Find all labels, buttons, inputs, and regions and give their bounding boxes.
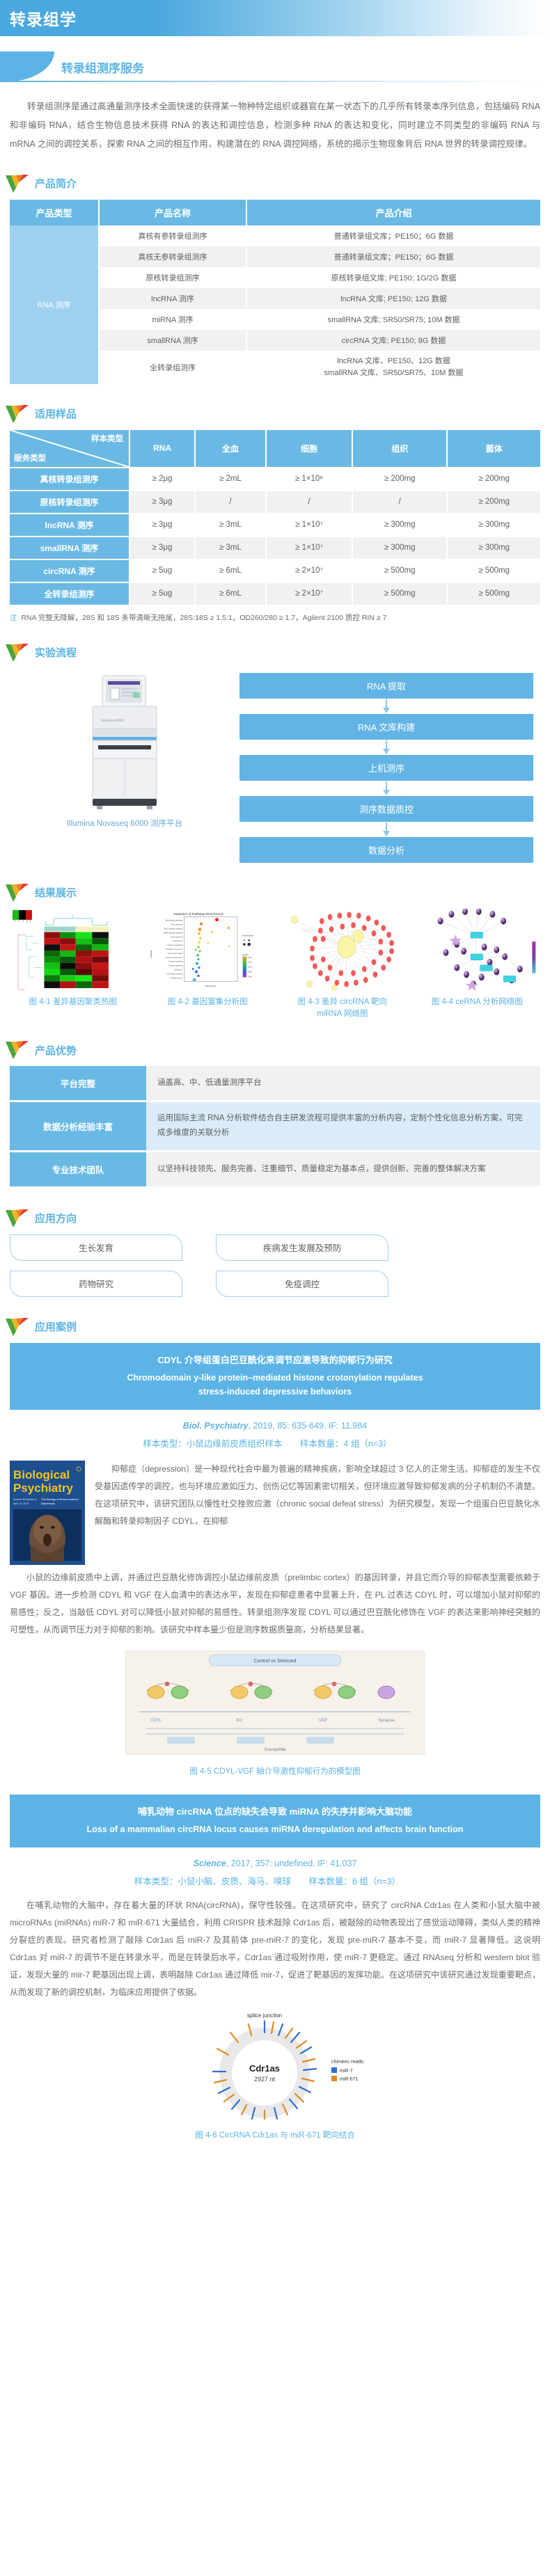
figure-caption: 图 4-2 基因富集分析图: [168, 996, 248, 1008]
svg-text:VGF: VGF: [319, 1719, 328, 1723]
svg-text:0.010: 0.010: [247, 962, 251, 963]
sample-value: ≥ 1×10⁷: [266, 514, 352, 536]
product-table-body: RNA 测序 真核有参转录组测序 普通转录组文库；PE150；6G 数据 真核无…: [10, 225, 540, 384]
case-figure-1: Control vs Stressed CDYL Kcr: [125, 1651, 425, 1776]
table-row: 真核转录组测序 ≥ 2μg ≥ 2mL ≥ 1×10⁶ ≥ 200mg ≥ 20…: [10, 468, 540, 491]
figure-item: 图 4-4 ceRNA 分析网络图: [411, 909, 544, 1021]
sample-service-name: 原核转录组测序: [10, 491, 129, 514]
note-label: 注:: [10, 614, 19, 622]
svg-text:p-Value: p-Value: [242, 953, 249, 956]
sample-value: ≥ 6mL: [195, 559, 266, 582]
svg-text:0.006: 0.006: [247, 971, 251, 973]
sample-value: ≥ 3μg: [129, 514, 195, 536]
figure-item: Statistics of Pathway Enrichment Ras sig…: [142, 909, 274, 1021]
product-table: 产品类型 产品名称 产品介绍 RNA 测序 真核有参转录组测序 普通转录组文库；…: [10, 200, 540, 384]
figure-caption: 图 4-4 ceRNA 分析网络图: [432, 996, 523, 1008]
sample-value: ≥ 200mg: [447, 491, 540, 514]
note-text: RNA 完整无降解，28S 和 18S 条带清晰无拖尾，28S:18S ≥ 1.…: [21, 614, 386, 622]
product-name: smallRNA 测序: [99, 330, 246, 351]
svg-text:Long-term depression: Long-term depression: [165, 956, 182, 959]
case-paragraph-1b: 小鼠的边缘前皮质中上调，并通过巴豆酰化修饰调控小鼠边缘前皮质（prelimbic…: [10, 1569, 540, 1639]
table-row: 平台完整 涵盖高、中、低通量测序平台: [10, 1066, 540, 1102]
case-sample-count: 样本数量：4 组（n=3）: [300, 1439, 392, 1449]
cdyl-vgf-model-figure-icon: Control vs Stressed CDYL Kcr: [125, 1651, 425, 1755]
sequencer-caption: Illumina Novaseq 6000 测序平台: [67, 818, 182, 829]
section-title: 结果展示: [35, 885, 77, 900]
case-meta-1: Biol. Psychiatry, 2019, 85: 635-649. IF:…: [10, 1421, 540, 1449]
case-paragraph-2: 在哺乳动物的大脑中，存在着大量的环状 RNA(circRNA)，保守性较强。在这…: [10, 1897, 540, 2002]
svg-text:Biological: Biological: [13, 1468, 70, 1481]
section-header-applications: 应用方向: [6, 1209, 550, 1227]
application-pill-growth[interactable]: 生长发育: [10, 1234, 182, 1261]
results-figures: 图 4-1 差异基因聚类热图 Statistics of Pathway Enr…: [7, 909, 543, 1021]
sample-value: ≥ 1×10⁶: [266, 468, 352, 491]
cerna-network-figure-icon: [411, 909, 544, 991]
case-sample-info: 样本类型：小鼠边缘前皮质组织样本 样本数量：4 组（n=3）: [10, 1436, 540, 1449]
intro-paragraph: 转录组测序是通过高通量测序技术全面快速的获得某一物种特定组织或器官在某一状态下的…: [10, 97, 540, 154]
sample-value: ≥ 1×10⁷: [266, 536, 352, 559]
svg-text:Cholinergic synapse: Cholinergic synapse: [166, 972, 183, 975]
advantage-key: 数据分析经验丰富: [10, 1102, 146, 1152]
svg-text:0.012: 0.012: [247, 957, 251, 959]
product-desc: 普通转录组文库；PE150；6G 数据: [246, 246, 540, 267]
product-desc: smallRNA 文库; SR50/SR75; 10M 数据: [246, 309, 540, 330]
v-check-icon: [6, 405, 29, 423]
svg-text:Rap1 signaling pathway: Rap1 signaling pathway: [164, 927, 183, 930]
product-desc: 原核转录组文库; PE150; 1G/2G 数据: [246, 267, 540, 288]
advantage-value: 以坚持科技领先、服务完善、注重细节、质量稳定为基本点，提供创新、完善的整体解决方…: [146, 1151, 540, 1187]
col-whole-blood: 全血: [195, 430, 266, 468]
sample-value: ≥ 300mg: [352, 514, 447, 536]
journal-details: , 2017, 357: undefined. IF: 41.037: [226, 1859, 357, 1868]
product-desc: lncRNA 文库; PE150; 12G 数据: [246, 288, 540, 309]
v-check-icon: [6, 1209, 29, 1227]
application-directions: 生长发育 疾病发生发展及预防 药物研究 免疫调控: [10, 1234, 540, 1297]
product-name: 原核转录组测序: [99, 267, 246, 288]
svg-text:Circadian entrainment: Circadian entrainment: [165, 948, 182, 951]
figure-item: 图 4-3 差异 circRNA 靶向 miRNA 网络图: [276, 909, 409, 1021]
advantage-value: 涵盖高、中、低通量测序平台: [146, 1066, 540, 1102]
cdr1as-length-label: 2927 nt: [254, 2076, 276, 2083]
chimeric-reads-title: chimeric reads:: [331, 2060, 365, 2065]
workflow-step: 数据分析: [239, 837, 533, 863]
workflow-arrow-icon: [239, 699, 533, 714]
svg-text:NovaSeq 6000: NovaSeq 6000: [101, 719, 124, 723]
case-title-en-line1: Chromodomain y-like protein–mediated his…: [24, 1371, 526, 1385]
sample-value: ≥ 500mg: [447, 559, 540, 582]
case-body-1: Biological Psychiatry Volume 85 Number 8…: [10, 1461, 540, 1565]
page-banner: 转录组学: [0, 0, 550, 36]
section-header-advantages: 产品优势: [6, 1041, 550, 1059]
sample-value: /: [266, 491, 352, 514]
svg-text:Pathway: Pathway: [150, 949, 152, 957]
svg-text:Neuroactive ligand: Neuroactive ligand: [168, 952, 183, 955]
product-name: 真核无参转录组测序: [99, 246, 246, 267]
table-row: 专业技术团队 以坚持科技领先、服务完善、注重细节、质量稳定为基本点，提供创新、完…: [10, 1151, 540, 1187]
sample-value: ≥ 3μg: [129, 491, 195, 514]
sample-value: ≥ 6mL: [195, 582, 266, 605]
section-title: 应用案例: [35, 1319, 77, 1334]
sample-table: 样本类型 服务类型 RNA 全血 细胞 组织 菌体 真核转录组测序 ≥ 2μg …: [10, 430, 540, 606]
product-name: miRNA 测序: [99, 309, 246, 330]
svg-text:Susceptible: Susceptible: [264, 1748, 286, 1752]
case-figure-caption: 图 4-6 CircRNA Cdr1as 与 miR-671 靶向结合: [160, 2129, 390, 2140]
v-check-icon: [6, 1318, 29, 1336]
sequencer-machine-icon: NovaSeq 6000: [83, 673, 166, 812]
case-title-cn: 哺乳动物 circRNA 位点的缺失会导致 miRNA 的失序并影响大脑功能: [24, 1804, 526, 1818]
table-row: 全转录组测序 ≥ 5ug ≥ 6mL ≥ 2×10⁷ ≥ 500mg ≥ 500…: [10, 582, 540, 605]
case-title-en-line2: stress-induced depressive behaviors: [24, 1385, 526, 1399]
svg-text:GeneNumber: GeneNumber: [242, 934, 253, 937]
case-journal-citation: Science, 2017, 357: undefined. IF: 41.03…: [10, 1859, 540, 1868]
table-header-row: 样本类型 服务类型 RNA 全血 细胞 组织 菌体: [10, 430, 540, 468]
sample-value: ≥ 500mg: [447, 582, 540, 605]
svg-text:Focal adhesion: Focal adhesion: [171, 935, 183, 938]
section-title: 产品简介: [35, 176, 77, 191]
figure-item: 图 4-1 差异基因聚类热图: [7, 909, 139, 1021]
product-name: 全转录组测序: [99, 351, 246, 384]
col-product-type: 产品类型: [10, 200, 99, 225]
sample-value: ≥ 2mL: [195, 468, 266, 491]
advantage-key: 平台完整: [10, 1066, 146, 1102]
circrna-network-figure-icon: [276, 909, 409, 991]
sample-value: ≥ 5ug: [129, 582, 195, 605]
advantages-table: 平台完整 涵盖高、中、低通量测序平台 数据分析经验丰富 运用国际主流 RNA 分…: [10, 1066, 540, 1188]
advantage-value: 运用国际主流 RNA 分析软件结合自主研发流程可提供丰富的分析内容，定制个性化信…: [146, 1102, 540, 1152]
svg-text:Axon guidance: Axon guidance: [171, 923, 182, 925]
svg-text:Hepatitis C: Hepatitis C: [173, 968, 182, 971]
workflow-step: 上机测序: [239, 755, 533, 781]
sample-table-note: 注: RNA 完整无降解，28S 和 18S 条带清晰无拖尾，28S:18S ≥…: [10, 612, 540, 623]
table-header-row: 产品类型 产品名称 产品介绍: [10, 200, 540, 225]
col-tissue: 组织: [352, 430, 447, 468]
svg-text:Endocytosis: Endocytosis: [173, 939, 182, 942]
case-paragraph-1a: 抑郁症（depression）是一种现代社会中最为普遍的精神疾病，影响全球超过 …: [95, 1461, 540, 1565]
sample-service-name: lncRNA 测序: [10, 514, 129, 536]
sample-value: ≥ 300mg: [352, 536, 447, 559]
svg-text:Prostate cancer: Prostate cancer: [170, 976, 182, 979]
section-header-results: 结果展示: [6, 884, 550, 902]
product-desc: circRNA 文库; PE150; 8G 数据: [246, 330, 540, 351]
workflow-arrow-icon: [239, 781, 533, 796]
sample-value: ≥ 3mL: [195, 514, 266, 536]
splice-junction-label: splice junction: [247, 2012, 282, 2019]
svg-text:Kcr: Kcr: [237, 1719, 243, 1723]
sample-value: ≥ 300mg: [447, 514, 540, 536]
svg-text:cAMP signaling pathway: cAMP signaling pathway: [163, 931, 182, 934]
svg-text:Psychiatry: Psychiatry: [13, 1481, 74, 1495]
section-title: 应用方向: [35, 1211, 77, 1225]
workflow-arrow-icon: [239, 740, 533, 755]
workflow-arrow-icon: [239, 822, 533, 837]
svg-text:CDYL: CDYL: [150, 1719, 162, 1723]
svg-text:Longevity regulating: Longevity regulating: [166, 944, 182, 946]
sample-service-name: 全转录组测序: [10, 582, 129, 605]
sample-value: ≥ 200mg: [447, 468, 540, 491]
workflow-step: 测序数据质控: [239, 796, 533, 822]
svg-text:Synapse: Synapse: [378, 1719, 395, 1723]
table-row: RNA 测序 真核有参转录组测序 普通转录组文库；PE150；6G 数据: [10, 225, 540, 246]
v-check-icon: [6, 884, 29, 902]
svg-text:Volume 85 Number 8: Volume 85 Number 8: [13, 1498, 37, 1501]
figure-caption: 图 4-3 差异 circRNA 靶向 miRNA 网络图: [298, 996, 387, 1021]
workflow-container: NovaSeq 6000 Illumina Novaseq 6000 测序平台 …: [10, 669, 540, 863]
cdr1as-center-label: Cdr1as: [249, 2063, 280, 2074]
journal-name: Biol. Psychiatry: [183, 1421, 249, 1431]
svg-text:April 15, 2019: April 15, 2019: [13, 1502, 29, 1505]
case-journal-citation: Biol. Psychiatry, 2019, 85: 635-649. IF:…: [10, 1421, 540, 1431]
figure-caption: 图 4-1 差异基因聚类热图: [29, 996, 117, 1008]
section-title: 实验流程: [35, 645, 77, 660]
banner-curve-shape: [0, 51, 54, 82]
advantage-key: 专业技术团队: [10, 1151, 146, 1187]
page-title: 转录组学: [10, 6, 77, 30]
application-pill-drug[interactable]: 药物研究: [10, 1271, 182, 1297]
sample-value: ≥ 200mg: [352, 468, 447, 491]
sample-value: ≥ 2μg: [129, 468, 195, 491]
svg-text:Calcium signaling: Calcium signaling: [168, 960, 183, 962]
sample-value: /: [352, 491, 447, 514]
case-sample-count: 样本数量：6 组（n=3）: [308, 1877, 400, 1886]
svg-text:Depression: Depression: [41, 1502, 55, 1505]
case-sample-type: 样本类型：小鼠边缘前皮质组织样本: [143, 1439, 282, 1449]
product-name: 真核有参转录组测序: [99, 225, 246, 246]
product-category-cell: RNA 测序: [10, 225, 99, 384]
product-desc: 普通转录组文库；PE150；6G 数据: [246, 225, 540, 246]
section-header-workflow: 实验流程: [6, 644, 550, 662]
sample-value: ≥ 500mg: [352, 582, 447, 605]
case-title-cn: CDYL 介导组蛋白巴豆酰化来调节应激导致的抑郁行为研究: [24, 1353, 526, 1366]
heatmap-figure-icon: [7, 909, 139, 991]
svg-text:0.004: 0.004: [247, 976, 251, 978]
application-pill-immune[interactable]: 免疫调控: [216, 1271, 388, 1297]
case-figure-2: splice junction: [160, 2009, 390, 2140]
section-header-cases: 应用案例: [6, 1318, 550, 1336]
sample-table-corner: 样本类型 服务类型: [10, 430, 129, 468]
svg-text:Control vs Stressed: Control vs Stressed: [253, 1659, 296, 1664]
journal-cover-image: Biological Psychiatry Volume 85 Number 8…: [10, 1461, 85, 1565]
section-title: 产品优势: [35, 1043, 77, 1058]
sample-value: ≥ 5ug: [129, 559, 195, 582]
svg-text:Rich Factor: Rich Factor: [205, 985, 216, 987]
col-cell: 细胞: [266, 430, 352, 468]
corner-label-sample-type: 样本类型: [91, 433, 123, 444]
section-header-product-intro: 产品简介: [6, 175, 550, 193]
col-product-name: 产品名称: [99, 200, 246, 225]
case-title-banner-2: 哺乳动物 circRNA 位点的缺失会导致 miRNA 的失序并影响大脑功能 L…: [10, 1795, 540, 1847]
workflow-step: RNA 提取: [239, 673, 533, 699]
journal-name: Science: [194, 1859, 226, 1868]
service-title: 转录组测序服务: [61, 58, 144, 76]
page-root: 转录组学 转录组测序服务 转录组测序是通过高通量测序技术全面快速的获得某一物种特…: [0, 0, 550, 2154]
sample-table-body: 真核转录组测序 ≥ 2μg ≥ 2mL ≥ 1×10⁶ ≥ 200mg ≥ 20…: [10, 468, 540, 605]
sample-value: ≥ 3μg: [129, 536, 195, 559]
sample-value: ≥ 300mg: [447, 536, 540, 559]
case-figure-caption: 图 4-5 CDYL-VGF 轴介导激性抑郁行为的模型图: [125, 1765, 425, 1776]
table-row: circRNA 测序 ≥ 5ug ≥ 6mL ≥ 2×10⁷ ≥ 500mg ≥…: [10, 559, 540, 582]
svg-text:Oxytocin signaling: Oxytocin signaling: [168, 964, 182, 967]
sample-value: ≥ 500mg: [352, 559, 447, 582]
sample-value: ≥ 2×10⁷: [266, 582, 352, 605]
svg-text:0.008: 0.008: [247, 967, 251, 968]
svg-text:Ras signaling pathway: Ras signaling pathway: [164, 919, 182, 921]
svg-text:The Biology of Stress-Induced: The Biology of Stress-Induced: [41, 1497, 79, 1501]
v-check-icon: [6, 644, 29, 662]
v-check-icon: [6, 175, 29, 193]
sample-service-name: circRNA 测序: [10, 559, 129, 582]
application-row: 药物研究 免疫调控: [10, 1271, 540, 1297]
col-bacteria: 菌体: [447, 430, 540, 468]
table-row: lncRNA 测序 ≥ 3μg ≥ 3mL ≥ 1×10⁷ ≥ 300mg ≥ …: [10, 514, 540, 536]
col-rna: RNA: [129, 430, 195, 468]
case-sample-info: 样本类型：小鼠小脑、皮质、海马、嗅球 样本数量：6 组（n=3）: [10, 1874, 540, 1887]
product-desc: lncRNA 文库、PE150、12G 数据 smallRNA 文库、SR50/…: [246, 351, 540, 384]
svg-text:Statistics of Pathway Enrichme: Statistics of Pathway Enrichment: [173, 912, 223, 916]
workflow-steps: RNA 提取 RNA 文库构建 上机测序 测序数据质控 数据分析: [239, 669, 540, 863]
enrichment-bubble-figure-icon: Statistics of Pathway Enrichment Ras sig…: [142, 909, 274, 991]
case-title-banner-1: CDYL 介导组蛋白巴豆酰化来调节应激导致的抑郁行为研究 Chromodomai…: [10, 1343, 540, 1410]
sample-value: ≥ 2×10⁷: [266, 559, 352, 582]
case-meta-2: Science, 2017, 357: undefined. IF: 41.03…: [10, 1859, 540, 1887]
workflow-step: RNA 文库构建: [239, 714, 533, 740]
section-header-samples: 适用样品: [6, 405, 550, 423]
product-name: lncRNA 测序: [99, 288, 246, 309]
sample-service-name: 真核转录组测序: [10, 468, 129, 491]
corner-label-service-type: 服务类型: [14, 452, 46, 463]
banner-rule: [0, 81, 550, 82]
journal-details: , 2019, 85: 635-649. IF: 11.984: [249, 1421, 368, 1431]
case-title-en-line1: Loss of a mammalian circRNA locus causes…: [24, 1822, 526, 1836]
section-title: 适用样品: [35, 406, 77, 421]
application-pill-disease[interactable]: 疾病发生发展及预防: [216, 1234, 388, 1261]
service-banner: 转录组测序服务: [0, 51, 550, 82]
sample-value: /: [195, 491, 266, 514]
case-sample-type: 样本类型：小鼠小脑、皮质、海马、嗅球: [134, 1877, 291, 1886]
table-row: 原核转录组测序 ≥ 3μg / / / ≥ 200mg: [10, 491, 540, 514]
sample-value: ≥ 3mL: [195, 536, 266, 559]
sequencer-panel: NovaSeq 6000 Illumina Novaseq 6000 测序平台: [10, 669, 239, 829]
cdr1as-circle-figure-icon: splice junction: [160, 2009, 390, 2120]
sample-service-name: smallRNA 测序: [10, 536, 129, 559]
application-row: 生长发育 疾病发生发展及预防: [10, 1234, 540, 1261]
legend-mir7: miR-7: [340, 2069, 353, 2074]
legend-mir671: miR-671: [340, 2077, 359, 2082]
table-row: smallRNA 测序 ≥ 3μg ≥ 3mL ≥ 1×10⁷ ≥ 300mg …: [10, 536, 540, 559]
v-check-icon: [6, 1041, 29, 1059]
table-row: 数据分析经验丰富 运用国际主流 RNA 分析软件结合自主研发流程可提供丰富的分析…: [10, 1102, 540, 1152]
col-product-desc: 产品介绍: [246, 200, 540, 225]
